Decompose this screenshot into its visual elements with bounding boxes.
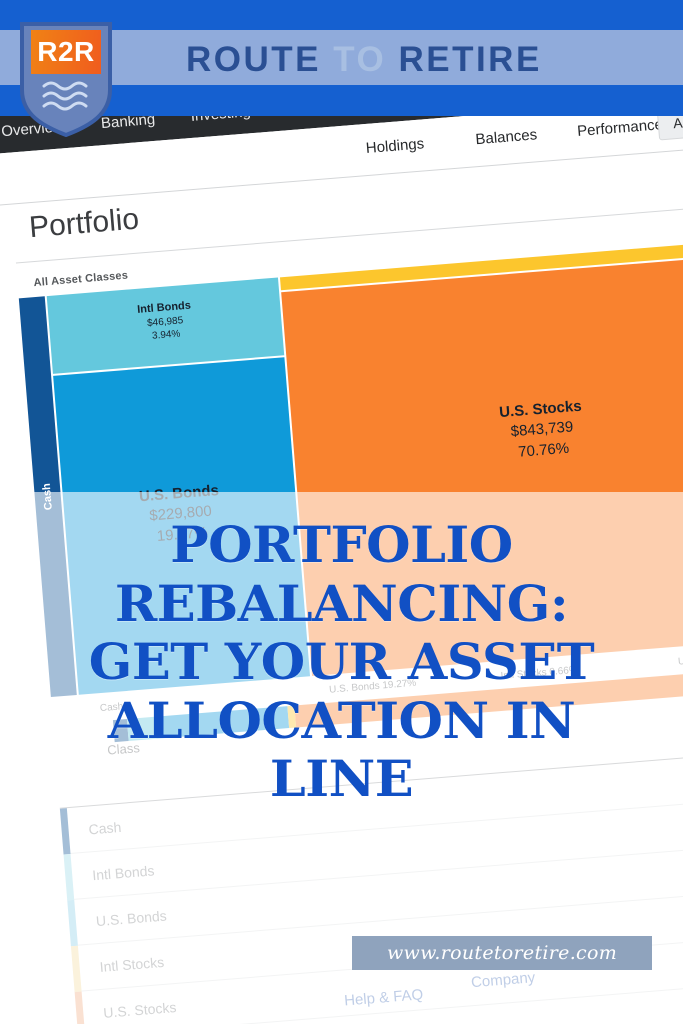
headline-line-3: GET YOUR ASSET (0, 633, 683, 692)
brand-title: ROUTE TO RETIRE (186, 40, 542, 80)
logo-text: R2R (31, 30, 101, 74)
headline-line-5: LINE (0, 750, 683, 809)
row-pct-us-bonds: 19.27% (676, 854, 683, 881)
pinterest-graphic: Overview Banking Investing Planning Weal… (0, 0, 683, 1024)
logo[interactable]: R2R (18, 22, 114, 137)
headline-line-2: REBALANCING: (0, 575, 683, 634)
tab-holdings[interactable]: Holdings (365, 135, 425, 157)
page-title: Portfolio (28, 203, 140, 246)
section-label-all-asset-classes: All Asset Classes (33, 270, 128, 290)
headline-line-4: ALLOCATION IN (0, 692, 683, 751)
brand-title-retire: RETIRE (398, 40, 541, 79)
brand-title-route: ROUTE (186, 40, 321, 79)
tab-performance[interactable]: Performance (577, 116, 664, 140)
tab-balances[interactable]: Balances (475, 126, 538, 148)
website-url-plate: www.routetoretire.com (352, 936, 652, 970)
pin-headline: PORTFOLIO REBALANCING: GET YOUR ASSET AL… (0, 516, 683, 809)
headline-line-1: PORTFOLIO (0, 516, 683, 575)
website-url: www.routetoretire.com (387, 942, 617, 964)
row-pct-intl-bonds: 3.94% (673, 809, 683, 836)
brand-title-to: TO (333, 40, 386, 79)
treemap-tile-cash-label: Cash (41, 483, 55, 511)
